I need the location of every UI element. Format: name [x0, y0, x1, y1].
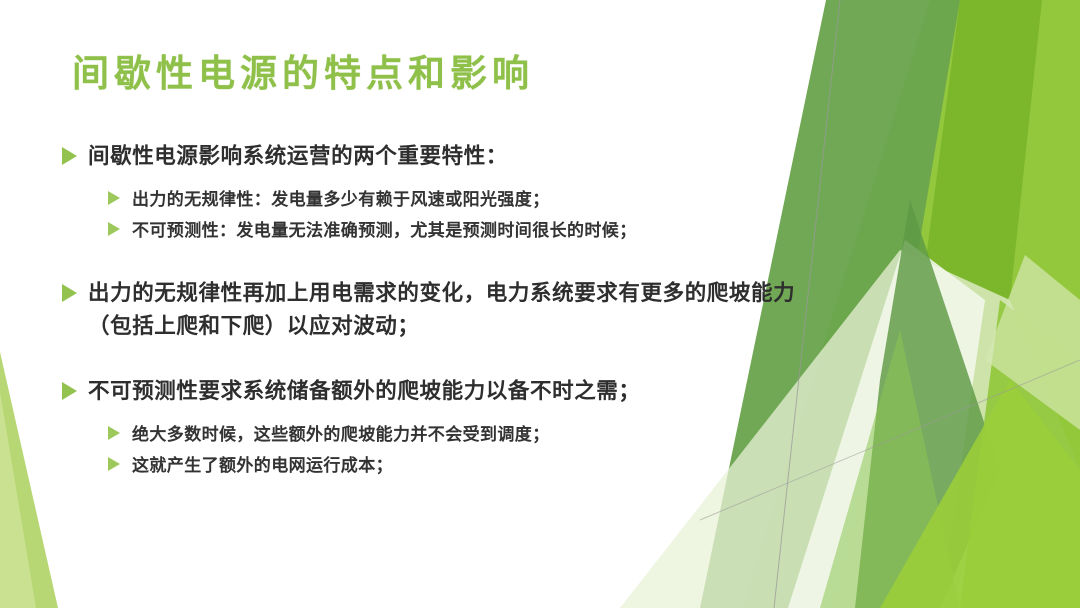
sub-bullet-level2: 不可预测性：发电量无法准确预测，尤其是预测时间很长的时候； — [108, 216, 822, 246]
deco-down-arrow — [855, 200, 1000, 608]
spacer — [62, 247, 822, 277]
deco-lime-band — [880, 0, 1080, 608]
triangle-sub-bullet-icon — [108, 451, 132, 471]
triangle-sub-bullet-icon — [108, 185, 132, 205]
bullet-text: 不可预测性要求系统储备额外的爬坡能力以备不时之需； — [88, 375, 641, 408]
bullet-level1: 不可预测性要求系统储备额外的爬坡能力以备不时之需； — [62, 375, 822, 408]
triangle-bullet-icon — [62, 375, 88, 400]
slide-title: 间歇性电源的特点和影响 — [72, 50, 534, 96]
sub-bullet-text: 这就产生了额外的电网运行成本； — [132, 451, 393, 481]
spacer — [62, 345, 822, 375]
sub-bullet-text: 绝大多数时候，这些额外的爬坡能力并不会受到调度； — [132, 420, 550, 450]
sub-bullet-level2: 这就产生了额外的电网运行成本； — [108, 451, 822, 481]
spacer — [62, 410, 822, 420]
deco-lower-right-slab — [960, 300, 1080, 608]
triangle-sub-bullet-icon — [108, 420, 132, 440]
sub-bullet-text: 不可预测性：发电量无法准确预测，尤其是预测时间很长的时候； — [132, 216, 637, 246]
sub-bullet-level2: 出力的无规律性：发电量多少有赖于风速或阳光强度； — [108, 185, 822, 215]
slide-body: 间歇性电源影响系统运营的两个重要特性： 出力的无规律性：发电量多少有赖于风速或阳… — [62, 140, 822, 482]
deco-bright-accent-bottom — [880, 380, 1080, 608]
bullet-level1: 间歇性电源影响系统运营的两个重要特性： — [62, 140, 822, 173]
deco-pale-overlay-right — [985, 255, 1080, 430]
triangle-bullet-icon — [62, 277, 88, 302]
triangle-sub-bullet-icon — [108, 216, 132, 236]
bullet-level1: 出力的无规律性再加上用电需求的变化，电力系统要求有更多的爬坡能力（包括上爬和下爬… — [62, 277, 822, 343]
deco-bottomleft-wedge — [0, 352, 58, 608]
presentation-slide: 间歇性电源的特点和影响 间歇性电源影响系统运营的两个重要特性： 出力的无规律性：… — [0, 0, 1080, 608]
sub-bullet-level2: 绝大多数时候，这些额外的爬坡能力并不会受到调度； — [108, 420, 822, 450]
deco-bottomleft-wedge-inner — [0, 392, 36, 608]
bullet-text: 间歇性电源影响系统运营的两个重要特性： — [88, 140, 508, 173]
deco-lower-left-triangle — [820, 330, 960, 608]
spacer — [62, 175, 822, 185]
sub-bullet-text: 出力的无规律性：发电量多少有赖于风速或阳光强度； — [132, 185, 550, 215]
triangle-bullet-icon — [62, 140, 88, 165]
bullet-text: 出力的无规律性再加上用电需求的变化，电力系统要求有更多的爬坡能力（包括上爬和下爬… — [88, 277, 822, 343]
